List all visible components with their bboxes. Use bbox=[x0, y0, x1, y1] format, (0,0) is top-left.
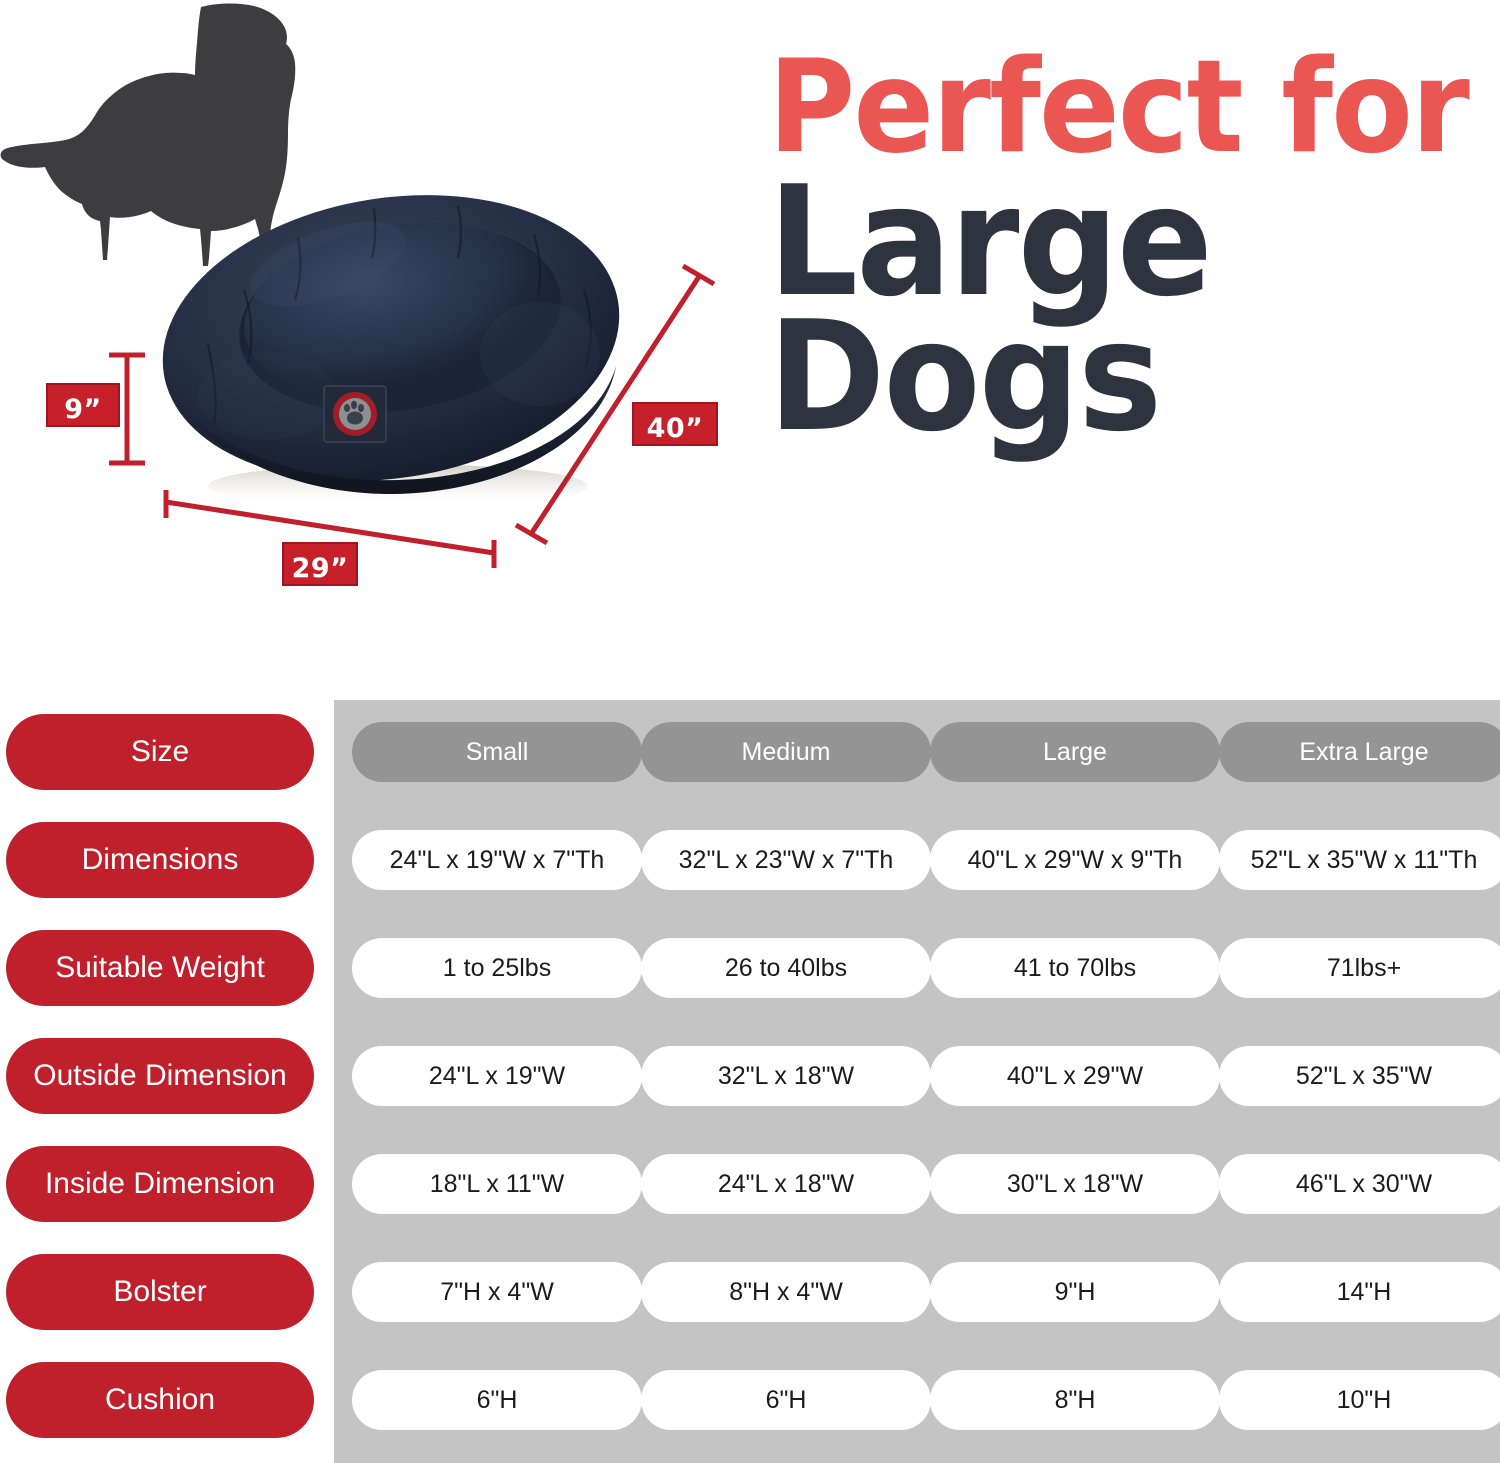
spec-cell: 40"L x 29"W bbox=[930, 1046, 1220, 1106]
dimension-badge-height: 9” bbox=[46, 383, 120, 427]
spec-row: SizeSmallMediumLargeExtra Large bbox=[0, 714, 1500, 790]
spec-cell: 8"H x 4"W bbox=[641, 1262, 931, 1322]
spec-cell: 10"H bbox=[1219, 1370, 1500, 1430]
spec-cell: 14"H bbox=[1219, 1262, 1500, 1322]
spec-cell: 18"L x 11"W bbox=[352, 1154, 642, 1214]
spec-cell: 24"L x 19"W x 7"Th bbox=[352, 830, 642, 890]
dimension-badge-length: 40” bbox=[632, 402, 718, 446]
spec-cell: 1 to 25lbs bbox=[352, 938, 642, 998]
spec-cell: 46"L x 30"W bbox=[1219, 1154, 1500, 1214]
spec-row: Suitable Weight1 to 25lbs26 to 40lbs41 t… bbox=[0, 930, 1500, 1006]
dog-bed-product-image bbox=[148, 168, 638, 513]
spec-cell: 41 to 70lbs bbox=[930, 938, 1220, 998]
spec-row: Outside Dimension24"L x 19"W32"L x 18"W4… bbox=[0, 1038, 1500, 1114]
spec-row: Dimensions24"L x 19"W x 7"Th32"L x 23"W … bbox=[0, 822, 1500, 898]
headline-line-perfect-for: Perfect for bbox=[768, 52, 1438, 165]
spec-row: Cushion6"H6"H8"H10"H bbox=[0, 1362, 1500, 1438]
headline-line-dogs: Dogs bbox=[768, 310, 1438, 444]
spec-cell: 52"L x 35"W bbox=[1219, 1046, 1500, 1106]
spec-cell: 32"L x 23"W x 7"Th bbox=[641, 830, 931, 890]
spec-row-label: Size bbox=[6, 714, 314, 790]
spec-column-header: Medium bbox=[641, 722, 931, 782]
spec-cell: 32"L x 18"W bbox=[641, 1046, 931, 1106]
headline-block: Perfect for Large Dogs bbox=[768, 52, 1488, 444]
spec-column-header: Small bbox=[352, 722, 642, 782]
spec-cell: 24"L x 18"W bbox=[641, 1154, 931, 1214]
spec-row-label: Inside Dimension bbox=[6, 1146, 314, 1222]
spec-row-label: Bolster bbox=[6, 1254, 314, 1330]
hero-section: 9” 29” 40” Perfect for Large Dogs bbox=[0, 0, 1500, 690]
spec-cell: 9"H bbox=[930, 1262, 1220, 1322]
spec-cell: 6"H bbox=[352, 1370, 642, 1430]
spec-cell: 30"L x 18"W bbox=[930, 1154, 1220, 1214]
spec-row-label: Dimensions bbox=[6, 822, 314, 898]
spec-cell: 7"H x 4"W bbox=[352, 1262, 642, 1322]
spec-cell: 26 to 40lbs bbox=[641, 938, 931, 998]
majestic-pet-brand-tag bbox=[324, 386, 386, 442]
spec-cell: 6"H bbox=[641, 1370, 931, 1430]
spec-cell: 24"L x 19"W bbox=[352, 1046, 642, 1106]
spec-column-header: Extra Large bbox=[1219, 722, 1500, 782]
spec-cell: 8"H bbox=[930, 1370, 1220, 1430]
spec-row: Bolster7"H x 4"W8"H x 4"W9"H14"H bbox=[0, 1254, 1500, 1330]
spec-cell: 52"L x 35"W x 11"Th bbox=[1219, 830, 1500, 890]
spec-row-label: Suitable Weight bbox=[6, 930, 314, 1006]
spec-cell: 40"L x 29"W x 9"Th bbox=[930, 830, 1220, 890]
dimension-badge-width: 29” bbox=[282, 542, 358, 586]
spec-cell: 71lbs+ bbox=[1219, 938, 1500, 998]
spec-row: Inside Dimension18"L x 11"W24"L x 18"W30… bbox=[0, 1146, 1500, 1222]
spec-column-header: Large bbox=[930, 722, 1220, 782]
spec-row-label: Outside Dimension bbox=[6, 1038, 314, 1114]
spec-row-label: Cushion bbox=[6, 1362, 314, 1438]
